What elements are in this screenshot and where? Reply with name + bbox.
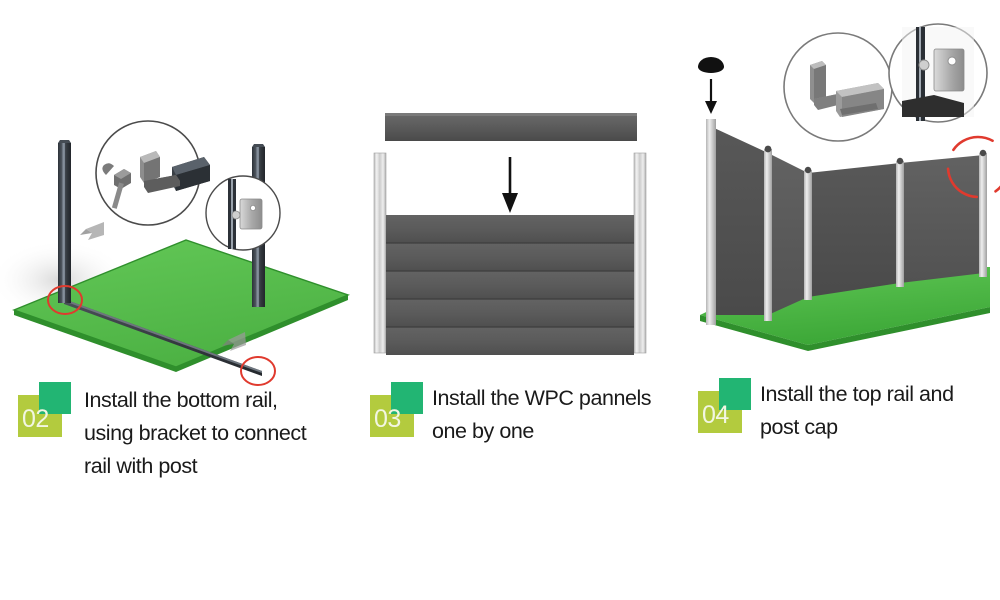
wpc-board [386,327,634,355]
step-caption-02: Install the bottom rail, using bracket t… [84,384,359,483]
step-card-04: 04 Install the top rail and post cap [690,0,1000,600]
fence-post-3 [804,167,812,300]
top-rail-profile-callout [784,33,892,141]
fence-panel-left-a [712,127,768,315]
step-number: 02 [18,395,62,437]
step-number: 04 [698,391,742,433]
fence-post-4 [896,158,904,287]
post-cap-drop-arrow [698,57,724,114]
downward-insert-arrow [502,157,518,213]
step-03-svg [360,95,690,365]
wpc-panel-installation-illustration [360,95,690,365]
instruction-sheet: 02 Install the bottom rail, using bracke… [0,0,1000,600]
bottom-rail-installation-illustration [0,95,360,365]
post-cap-bracket-callout [889,24,987,122]
fence-panel-right-a [808,163,900,297]
fence-post-1 [706,119,716,325]
step-badge-04: 04 [698,378,744,424]
step-02-svg [0,95,360,365]
wpc-board [386,299,634,327]
step-card-03: 03 Install the WPC pannels one by one [360,0,690,600]
step-04-svg [690,15,1000,365]
fence-post-2 [764,146,772,321]
step-badge-03: 03 [370,382,416,428]
top-rail-post-cap-illustration [690,15,1000,365]
step-caption-03: Install the WPC pannels one by one [432,382,692,448]
fence-panel-right-b [900,155,984,283]
wpc-board [386,271,634,299]
top-rail-plank [385,113,637,141]
wpc-board [386,243,634,271]
step-caption-04: Install the top rail and post cap [760,378,1000,444]
fence-panel-left-b [768,153,808,315]
bracket-hammer-callout [96,121,210,225]
post-right [634,153,646,353]
step-card-02: 02 Install the bottom rail, using bracke… [0,0,360,600]
fence-post-5 [979,150,987,277]
wpc-board-stack [386,215,634,355]
pointer-arrow-left [80,222,104,240]
wpc-board [386,215,634,243]
post-bracket-callout [206,176,280,250]
post-left [374,153,386,353]
step-number: 03 [370,395,414,437]
step-badge-02: 02 [18,382,64,428]
post-left [58,140,71,303]
